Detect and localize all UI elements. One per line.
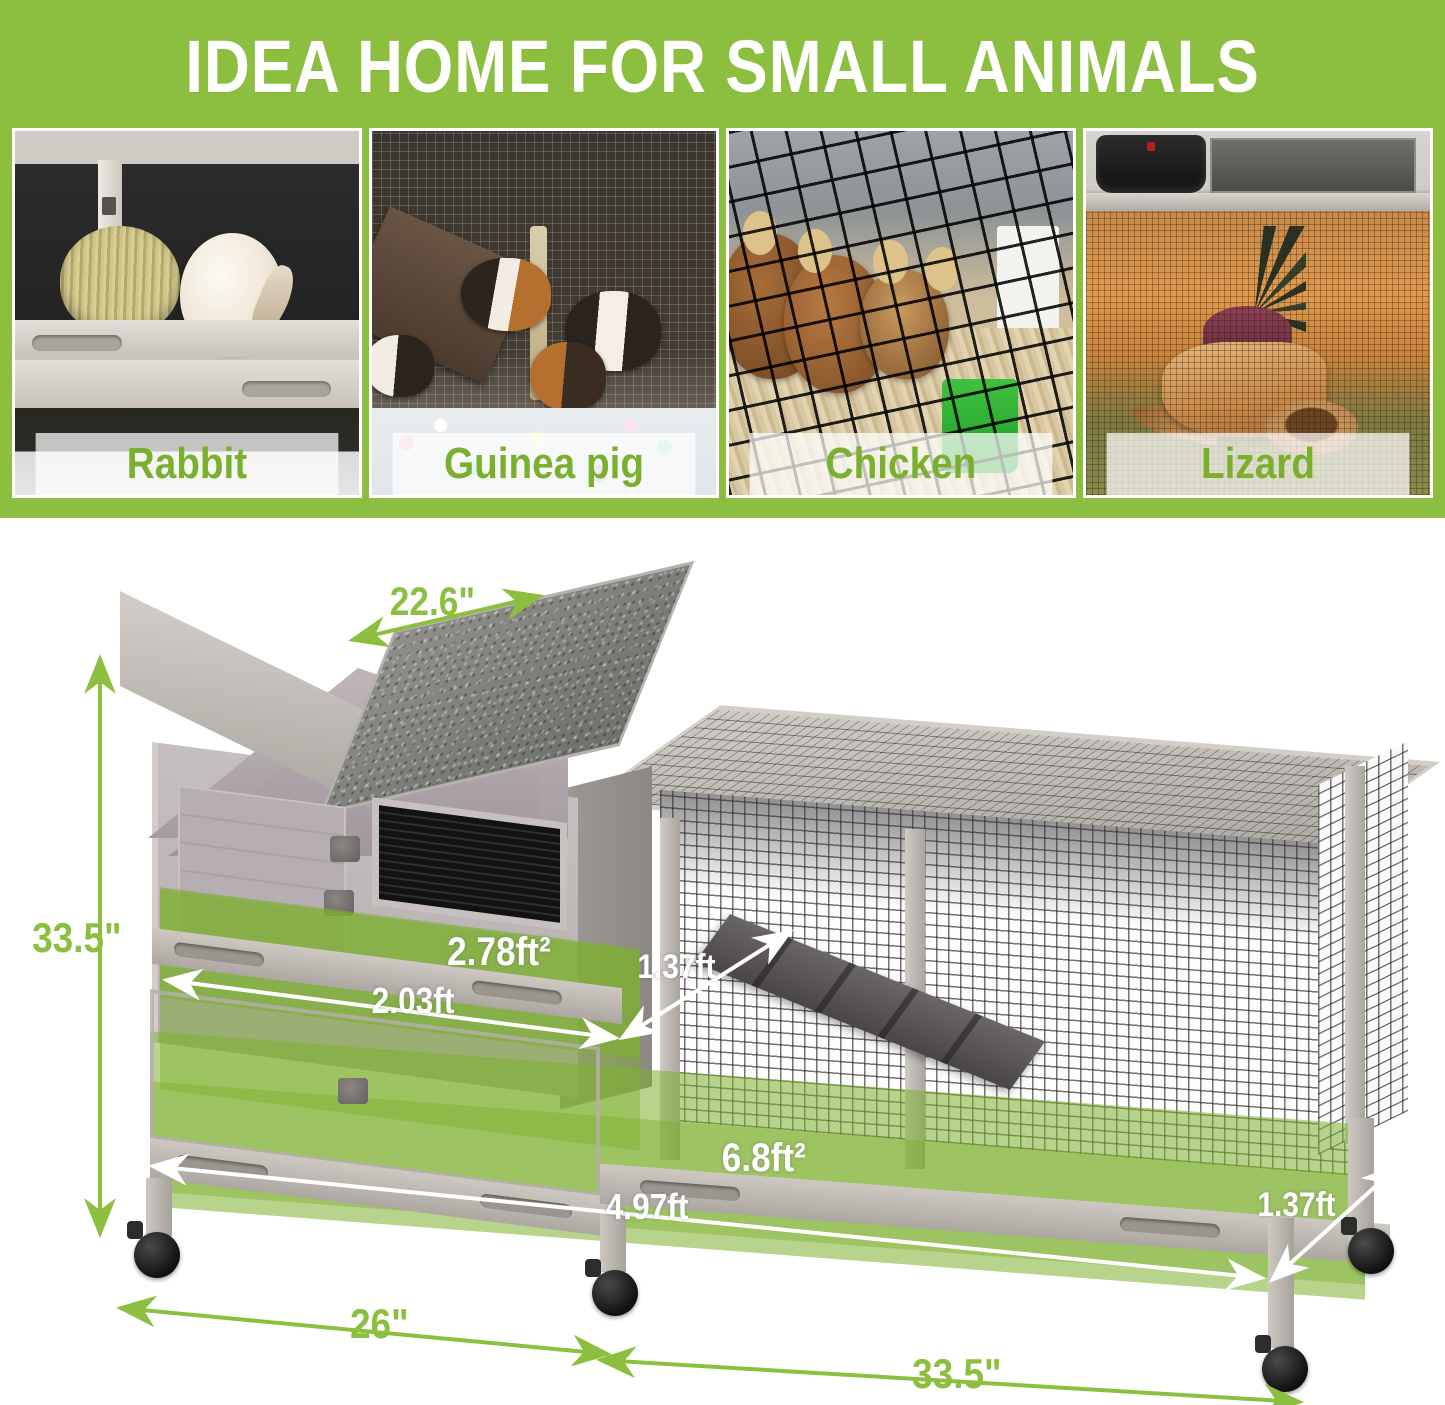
dimension-lower-length: 4.97ft [606,1186,689,1228]
handle-slot [176,1154,268,1180]
caster-wheel [592,1270,638,1316]
hutch-rail [15,360,359,407]
photo-chicken: Chicken [729,131,1073,495]
photo-card-rabbit: Rabbit [12,128,362,498]
terrarium-rim [1086,193,1430,211]
handle-slot [472,980,562,1006]
latch-icon [102,197,116,215]
handle-slot [1120,1217,1220,1239]
dimension-run-width: 33.5" [912,1350,1001,1398]
photo-label-guinea-pig: Guinea pig [393,433,696,495]
photo-lizard: Lizard [1086,131,1430,495]
ramp-rung [752,937,794,988]
photo-guinea-pig: Guinea pig [372,131,716,495]
run-post [1345,766,1365,1144]
door-hinge-icon [330,836,360,862]
guinea-pig-body [530,342,606,411]
handle-slot [242,381,331,397]
dimension-upper-depth: 1.37ft [637,948,715,987]
photo-card-chicken: Chicken [726,128,1076,498]
photo-card-guinea-pig: Guinea pig [369,128,719,498]
page-title: IDEA HOME FOR SMALL ANIMALS [101,24,1344,110]
guinea-pig-body [461,258,550,331]
ramp-rung [878,988,920,1039]
dimension-total-height: 33.5" [32,914,121,962]
door-latch-icon [338,1078,368,1104]
caster-wheel [134,1232,180,1278]
animal-photo-strip: Rabbit Guinea pig [12,128,1433,498]
product-dimension-diagram: 22.6" 33.5" 2.78ft² 2.03ft 1.37ft 6.8ft²… [0,518,1445,1405]
dimension-lower-depth: 1.37ft [1257,1186,1335,1225]
photo-label-chicken: Chicken [750,433,1053,495]
hero-banner: IDEA HOME FOR SMALL ANIMALS [0,0,1445,518]
ramp-rung [941,1013,983,1064]
ramp-rung [815,963,857,1014]
photo-rabbit: Rabbit [15,131,359,495]
handle-slot [174,942,264,968]
hutch-rail [15,320,359,356]
guinea-pig-body [372,335,434,397]
leg [146,1178,172,1236]
terrarium-top [1210,138,1416,193]
dimension-roof-depth: 22.6" [390,580,475,625]
photo-label-lizard: Lizard [1107,433,1410,495]
caster-wheel [1262,1346,1308,1392]
handle-slot [32,335,121,351]
dimension-lower-area: 6.8ft² [722,1136,806,1181]
hutch-illustration [0,518,1445,1405]
dimension-upper-area: 2.78ft² [447,930,551,975]
photo-card-lizard: Lizard [1083,128,1433,498]
hay-tunnel [60,226,180,335]
dimension-hutch-width: 26" [350,1300,409,1348]
photo-label-rabbit: Rabbit [36,433,339,495]
caster-wheel [1348,1228,1394,1274]
heat-lamp-icon [1096,135,1206,193]
handle-slot [480,1193,572,1219]
leg [1268,1218,1294,1348]
dimension-upper-length: 2.03ft [372,980,455,1022]
